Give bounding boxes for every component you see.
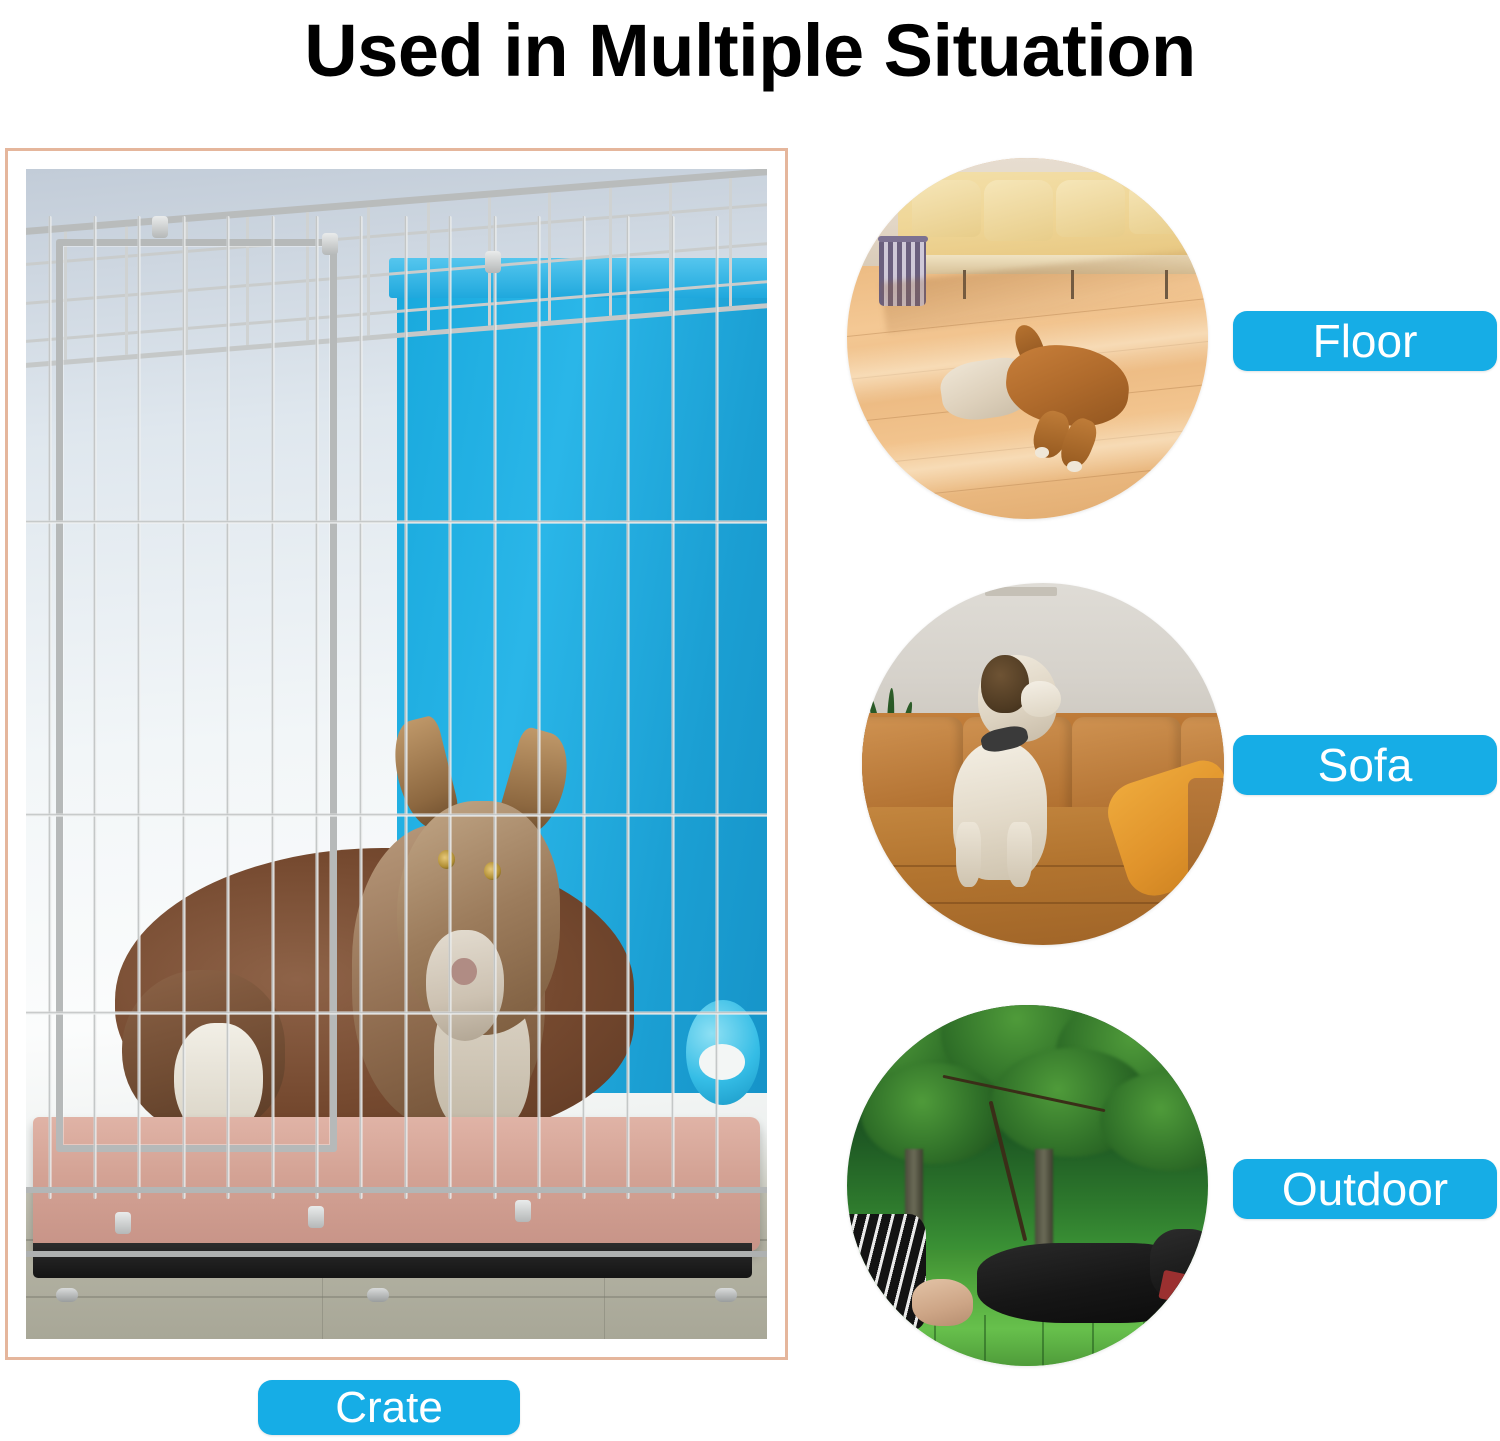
- situation-image-floor: [847, 158, 1208, 519]
- label-sofa[interactable]: Sofa: [1233, 735, 1497, 795]
- sofa-dog-snout: [1021, 681, 1061, 717]
- dog-nose: [451, 958, 476, 985]
- wall-shelf: [985, 587, 1057, 596]
- blue-ball-toy: [686, 1000, 760, 1105]
- situation-image-sofa: [862, 583, 1224, 945]
- crate-photo: [26, 169, 767, 1339]
- page-title: Used in Multiple Situation: [0, 0, 1500, 100]
- crate-bottom-rail: [26, 1187, 767, 1257]
- sofa-arm: [1188, 778, 1224, 923]
- label-floor[interactable]: Floor: [1233, 311, 1497, 371]
- crate-photo-frame: [5, 148, 788, 1360]
- dog-eye-left: [438, 850, 455, 869]
- label-crate[interactable]: Crate: [258, 1380, 520, 1435]
- label-outdoor[interactable]: Outdoor: [1233, 1159, 1497, 1219]
- situation-image-outdoor: [847, 1005, 1208, 1366]
- person-hand: [912, 1279, 973, 1326]
